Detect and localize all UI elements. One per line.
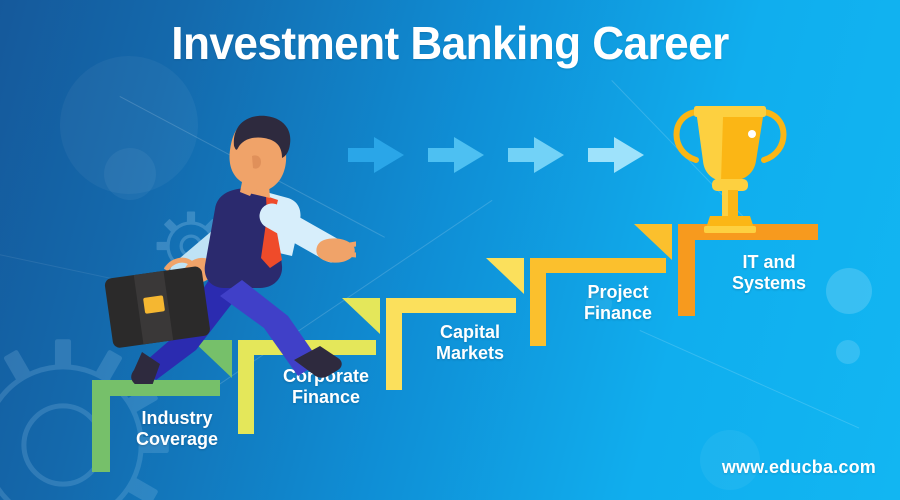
step-capital-markets[interactable]: Capital Markets — [386, 298, 520, 390]
step-project-finance[interactable]: Project Finance — [530, 258, 670, 346]
step-accent-triangle — [486, 258, 524, 294]
website-url: www.educba.com — [722, 457, 876, 478]
step-label: Industry Coverage — [118, 408, 236, 450]
step-label: Project Finance — [554, 282, 682, 324]
step-label: IT and Systems — [704, 252, 834, 294]
line-decoration — [640, 330, 860, 429]
arrow-right-icon — [508, 134, 566, 181]
step-bar-top — [386, 298, 516, 313]
page-title: Investment Banking Career — [18, 16, 882, 70]
running-businessman-icon — [96, 104, 356, 384]
step-bar-left — [386, 298, 402, 390]
circle-decoration — [836, 340, 860, 364]
trophy-icon — [666, 96, 794, 236]
step-bar-top — [530, 258, 666, 273]
step-it-and-systems[interactable]: IT and Systems — [678, 224, 824, 316]
arrow-right-icon — [588, 134, 646, 181]
step-bar-left — [92, 380, 110, 472]
infographic-canvas: Investment Banking Career Industry Cover… — [0, 0, 900, 500]
step-bar-left — [678, 224, 695, 316]
step-label: Capital Markets — [408, 322, 532, 364]
arrow-right-icon — [428, 134, 486, 181]
arrow-right-icon — [348, 134, 406, 181]
step-industry-coverage[interactable]: Industry Coverage — [92, 380, 224, 472]
step-bar-left — [530, 258, 546, 346]
